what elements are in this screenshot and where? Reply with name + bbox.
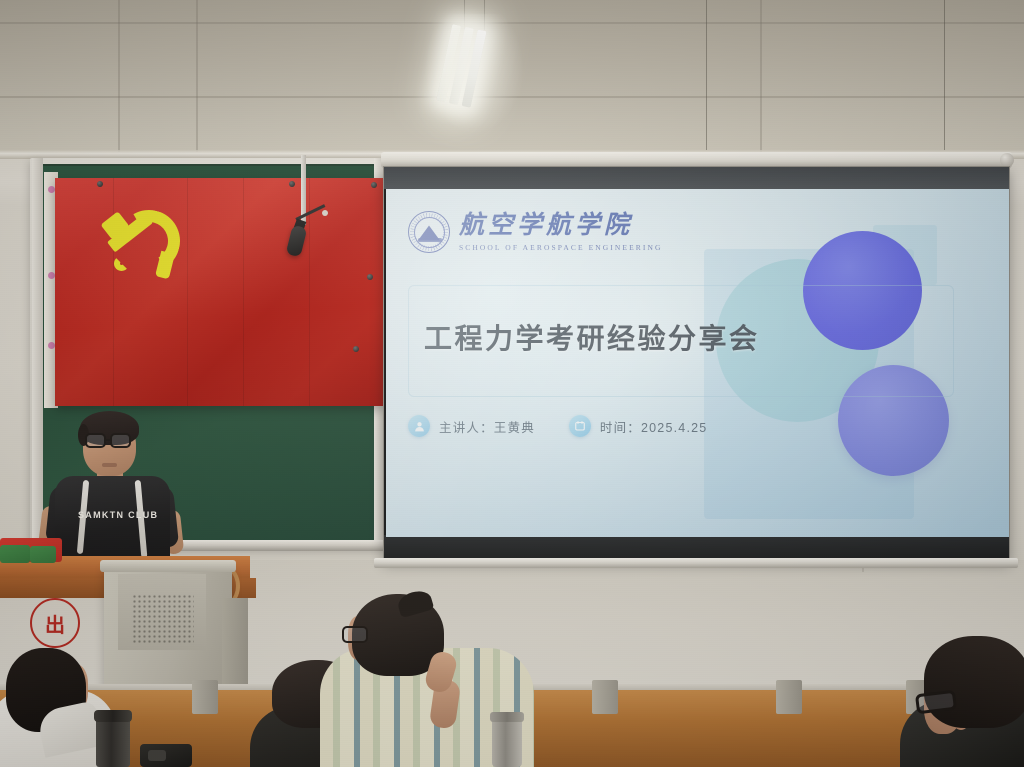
lectern-top [100,560,236,572]
light-hanging-wire [464,0,465,30]
slide-title: 工程力学考研经验分享会 [424,317,760,357]
thermos-bottle-silver [492,716,522,767]
person-icon [408,415,430,437]
ceiling-seam [0,96,1024,98]
green-item [0,545,30,563]
ceiling-wire [706,0,707,150]
shirt-text: SAMKTN CLUB [78,510,158,520]
school-name-en: SCHOOL OF AEROSPACE ENGINEERING [459,243,663,252]
classroom-scene: SAMKTN CLUB 航空 [0,0,1024,767]
ceiling [0,0,1024,162]
audience-hair [924,636,1024,728]
speaker-mouth [102,463,117,467]
flag-tab [48,186,55,193]
ceiling-seam [196,0,198,152]
university-seal-icon [408,211,450,253]
green-item [30,546,56,563]
desk-bracket [592,680,618,714]
ceiling-seam [0,22,1024,24]
projection-screen[interactable]: 航空学航学院 SCHOOL OF AEROSPACE ENGINEERING 工… [383,166,1010,560]
screen-top-bar [384,167,1009,189]
ceiling-wire [944,0,945,150]
school-logo: 航空学航学院 SCHOOL OF AEROSPACE ENGINEERING [408,211,663,253]
screen-housing-cap [1000,153,1014,167]
date-label: 时间：2025.4.25 [600,417,708,436]
thermos-bottle-dark [96,716,130,767]
audience-glasses [342,626,368,643]
ceiling-seam [760,0,762,152]
presentation-slide: 航空学航学院 SCHOOL OF AEROSPACE ENGINEERING 工… [386,189,1009,537]
speaker-glasses [85,433,106,448]
hammer-sickle-emblem [100,204,196,282]
flag-tab [48,272,55,279]
presenter-label: 主讲人：王黄典 [439,417,535,436]
thermos-lid [490,712,524,722]
desk-bracket [776,680,802,714]
screen-lower-rail [374,558,1018,568]
calendar-icon [569,415,591,437]
flag-tab [48,342,55,349]
light-hanging-wire [484,0,485,30]
emblem-glyph: 出 [40,608,70,638]
ceiling-seam [118,0,120,152]
date-info: 时间：2025.4.25 [569,415,708,437]
lectern-side [222,598,248,694]
phone-camera [148,750,166,761]
thermos-lid [94,710,132,722]
screen-bottom-bar [384,535,1009,559]
presenter-info: 主讲人：王黄典 [408,415,535,437]
school-name-cn: 航空学航学院 [459,213,663,238]
blackboard-post [32,158,43,550]
desk-bracket [192,680,218,714]
lectern-speaker-grill [132,594,194,644]
microphone-knob [322,210,328,216]
speaker-glasses [110,433,131,448]
glasses-bridge [105,439,111,441]
slide-meta-row: 主讲人：王黄典 时间：2025.4.25 [408,415,707,437]
